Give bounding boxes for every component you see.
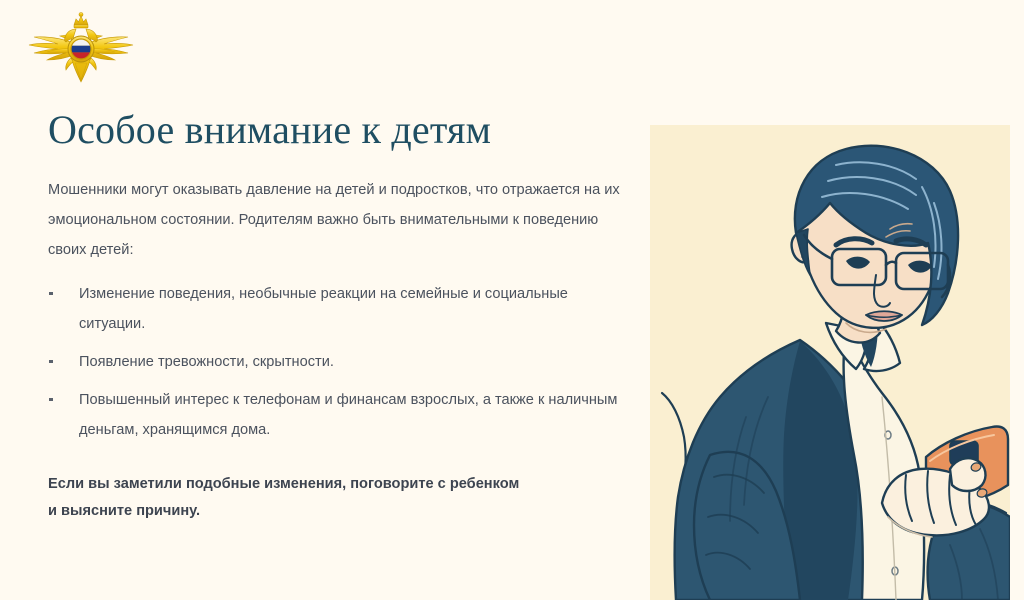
warning-signs-list: Изменение поведения, необычные реакции н… (48, 279, 628, 445)
list-item-text: Изменение поведения, необычные реакции н… (79, 286, 568, 332)
closing-callout: Если вы заметили подобные изменения, пог… (48, 471, 588, 525)
content-column: Особое внимание к детям Мошенники могут … (48, 108, 628, 525)
intro-paragraph: Мошенники могут оказывать давление на де… (48, 175, 620, 265)
list-item-text: Повышенный интерес к телефонам и финанса… (79, 392, 617, 438)
list-item: Повышенный интерес к телефонам и финанса… (48, 385, 619, 445)
page-title: Особое внимание к детям (48, 108, 628, 153)
list-item: Появление тревожности, скрытности. (48, 347, 619, 377)
list-item: Изменение поведения, необычные реакции н… (48, 279, 619, 339)
closing-line-2: и выясните причину. (48, 498, 588, 525)
teen-with-phone-illustration (650, 125, 1010, 600)
bullet-dot-icon (49, 360, 53, 364)
bullet-dot-icon (49, 398, 53, 402)
closing-line-1: Если вы заметили подобные изменения, пог… (48, 471, 588, 498)
mvd-emblem-icon (14, 8, 148, 94)
list-item-text: Появление тревожности, скрытности. (79, 354, 334, 370)
bullet-dot-icon (49, 292, 53, 296)
slide-root: Особое внимание к детям Мошенники могут … (0, 0, 1024, 600)
